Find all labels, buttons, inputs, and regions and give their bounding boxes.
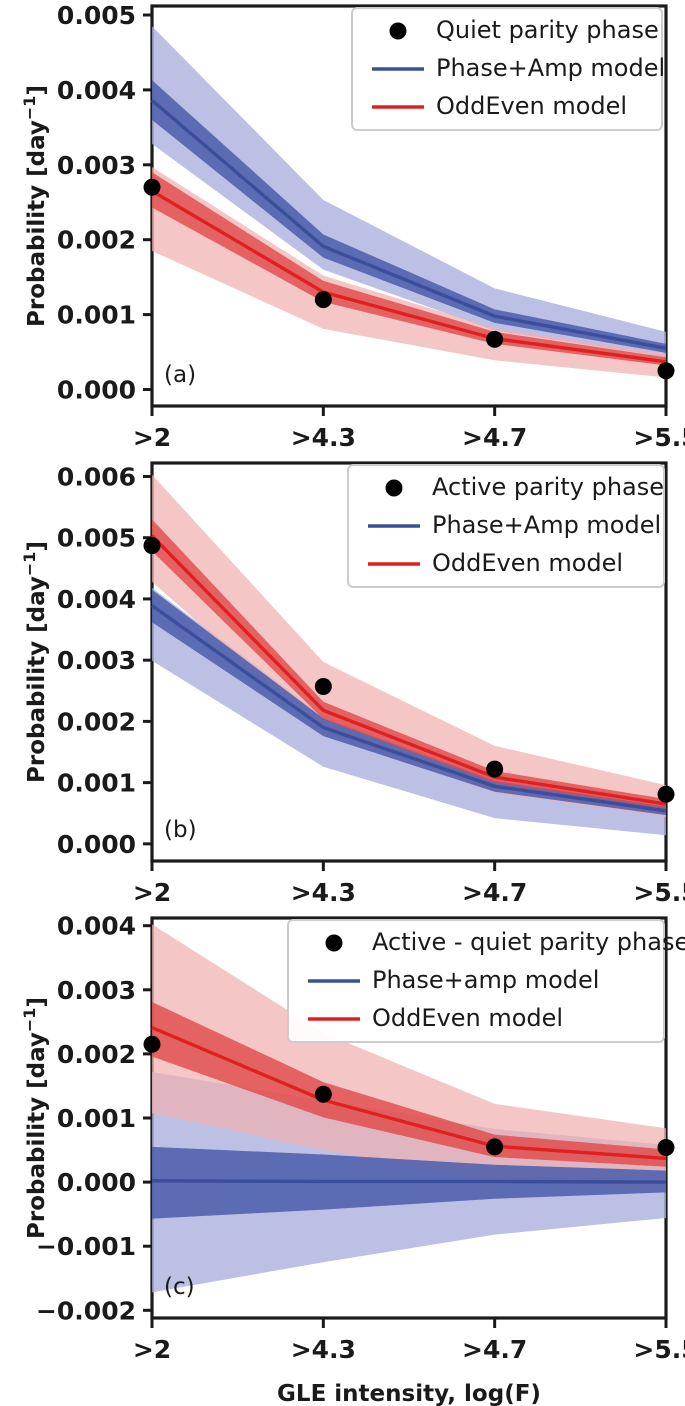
legend-label: OddEven model	[436, 92, 627, 120]
legend-marker-icon	[386, 480, 403, 497]
y-tick-label: 0.004	[57, 76, 136, 105]
legend: Active - quiet parity phasePhase+amp mod…	[288, 920, 685, 1042]
x-tick-label: >5.5	[633, 423, 685, 452]
legend-marker-icon	[326, 935, 343, 952]
legend-label: Quiet parity phase	[436, 16, 659, 44]
y-axis-title: Probability [day−1]	[20, 997, 50, 1239]
legend-label: Phase+amp model	[372, 966, 599, 994]
y-tick-label: 0.004	[57, 912, 136, 941]
y-tick-label: 0.006	[57, 462, 136, 491]
data-marker	[486, 1138, 503, 1155]
data-marker	[486, 331, 503, 348]
y-tick-label: 0.005	[57, 1, 136, 30]
x-tick-label: >2	[133, 878, 171, 907]
y-tick-label: 0.000	[57, 830, 136, 859]
panel-tag: (c)	[164, 1274, 195, 1300]
panel-tag: (b)	[164, 817, 197, 843]
svg-text:Probability [day−1]: Probability [day−1]	[20, 85, 50, 327]
y-tick-label: 0.005	[57, 524, 136, 553]
y-tick-label: 0.002	[57, 226, 136, 255]
y-tick-label: 0.000	[57, 1168, 136, 1197]
panel-b: 0.0000.0010.0020.0030.0040.0050.006>2>4.…	[0, 455, 685, 910]
legend-label: Active parity phase	[432, 473, 664, 501]
x-tick-label: >4.7	[462, 423, 527, 452]
chart-a: 0.0000.0010.0020.0030.0040.005>2>4.3>4.7…	[0, 0, 685, 455]
y-tick-label: 0.004	[57, 585, 136, 614]
y-tick-label: −0.002	[36, 1296, 136, 1325]
svg-text:Probability [day−1]: Probability [day−1]	[20, 997, 50, 1239]
x-tick-label: >4.3	[291, 423, 356, 452]
x-tick-label: >4.3	[291, 1335, 356, 1364]
legend-marker-icon	[390, 23, 407, 40]
y-tick-label: −0.001	[36, 1232, 136, 1261]
x-tick-label: >2	[133, 423, 171, 452]
x-axis-title: GLE intensity, log(F)	[277, 1381, 541, 1406]
data-marker	[144, 537, 161, 554]
legend-label: Phase+Amp model	[436, 54, 665, 82]
data-marker	[658, 1139, 675, 1156]
data-marker	[658, 786, 675, 803]
x-tick-label: >5.5	[633, 1335, 685, 1364]
x-tick-label: >4.7	[462, 878, 527, 907]
y-tick-label: 0.002	[57, 707, 136, 736]
data-marker	[315, 291, 332, 308]
legend-label: Active - quiet parity phase	[372, 928, 685, 956]
x-tick-label: >4.3	[291, 878, 356, 907]
data-marker	[144, 1036, 161, 1053]
x-tick-label: >4.7	[462, 1335, 527, 1364]
y-tick-label: 0.001	[57, 301, 136, 330]
x-tick-label: >2	[133, 1335, 171, 1364]
y-tick-label: 0.000	[57, 376, 136, 405]
data-marker	[144, 179, 161, 196]
legend-label: OddEven model	[372, 1004, 563, 1032]
chart-c: −0.002−0.0010.0000.0010.0020.0030.004>2>…	[0, 910, 685, 1406]
data-marker	[315, 678, 332, 695]
y-tick-label: 0.003	[57, 646, 136, 675]
y-tick-label: 0.003	[57, 151, 136, 180]
figure-root: 0.0000.0010.0020.0030.0040.005>2>4.3>4.7…	[0, 0, 685, 1406]
y-tick-label: 0.001	[57, 769, 136, 798]
y-tick-label: 0.001	[57, 1104, 136, 1133]
y-tick-label: 0.002	[57, 1040, 136, 1069]
svg-text:Probability [day−1]: Probability [day−1]	[20, 541, 50, 783]
y-axis-title: Probability [day−1]	[20, 85, 50, 327]
data-marker	[315, 1086, 332, 1103]
x-tick-label: >5.5	[633, 878, 685, 907]
y-axis-title: Probability [day−1]	[20, 541, 50, 783]
blue-model-line	[152, 1181, 666, 1182]
data-marker	[658, 362, 675, 379]
legend-label: OddEven model	[432, 549, 623, 577]
legend-label: Phase+Amp model	[432, 511, 661, 539]
legend: Active parity phasePhase+Amp modelOddEve…	[348, 465, 664, 587]
panel-c: −0.002−0.0010.0000.0010.0020.0030.004>2>…	[0, 910, 685, 1406]
y-tick-label: 0.003	[57, 976, 136, 1005]
panel-tag: (a)	[164, 362, 196, 388]
data-marker	[486, 761, 503, 778]
panel-a: 0.0000.0010.0020.0030.0040.005>2>4.3>4.7…	[0, 0, 685, 455]
chart-b: 0.0000.0010.0020.0030.0040.0050.006>2>4.…	[0, 455, 685, 910]
legend: Quiet parity phasePhase+Amp modelOddEven…	[352, 8, 665, 130]
